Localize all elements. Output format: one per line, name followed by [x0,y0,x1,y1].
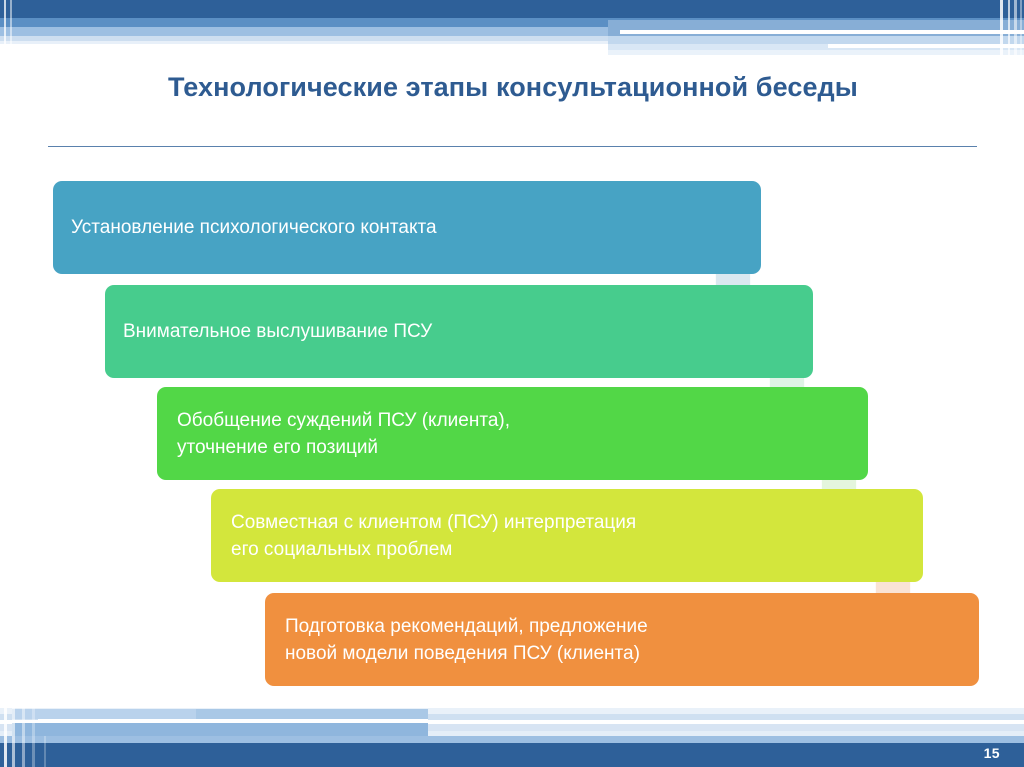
top-decoration-band [0,0,1024,60]
bottom-bar-5 [0,736,1024,743]
bottom-bar-dark [0,743,1024,767]
bottom-bar-vertical-notch-2 [12,708,15,767]
top-bar-left-notch-2 [10,0,12,44]
process-stage-label: Установление психологического контакта [71,214,437,241]
top-bar-left-notch-1 [4,0,6,44]
top-bar-dark [0,0,1024,18]
top-bar-right-highlight-1 [620,30,1024,34]
top-bar-vertical-notch-3 [1014,0,1017,60]
bottom-bar-left-3 [12,723,428,736]
process-stage-box[interactable]: Подготовка рекомендаций, предложение нов… [265,593,979,686]
top-bar-vertical-notch-4 [1020,0,1022,60]
process-stage-box[interactable]: Установление психологического контакта [53,181,761,274]
bottom-bar-vertical-notch-3 [22,708,25,767]
process-stage-label: Совместная с клиентом (ПСУ) интерпретаци… [231,509,636,563]
top-bar-right-4 [608,50,1024,55]
bottom-bar-vertical-notch-1 [4,708,7,767]
bottom-bar-vertical-notch-4 [32,708,35,767]
process-stage-box[interactable]: Обобщение суждений ПСУ (клиента), уточне… [157,387,868,480]
top-bar-right-2 [608,36,1024,44]
top-bar-vertical-notch-1 [1000,0,1003,60]
process-stage-label: Подготовка рекомендаций, предложение нов… [285,613,648,667]
bottom-bar-left-2 [196,709,428,719]
process-stage-label: Обобщение суждений ПСУ (клиента), уточне… [177,407,510,461]
process-stage-box[interactable]: Внимательное выслушивание ПСУ [105,285,813,378]
process-stage-box[interactable]: Совместная с клиентом (ПСУ) интерпретаци… [211,489,923,582]
slide-canvas: Технологические этапы консультационной б… [0,0,1024,767]
top-bar-right-highlight-2 [828,44,1024,48]
top-bar-vertical-notch-2 [1008,0,1010,60]
bottom-decoration-band: 15 [0,695,1024,767]
process-stage-label: Внимательное выслушивание ПСУ [123,318,432,345]
page-number: 15 [984,745,1000,761]
bottom-bar-vertical-notch-5 [44,736,46,767]
title-underline-rule [48,146,977,147]
slide-title: Технологические этапы консультационной б… [48,72,978,103]
